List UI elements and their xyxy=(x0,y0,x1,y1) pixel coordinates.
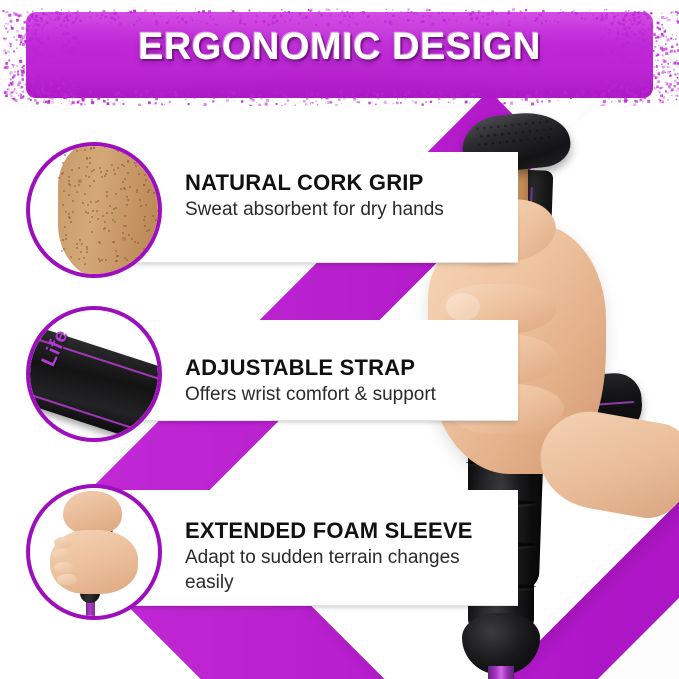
feature-text-block: EXTENDED FOAM SLEEVE Adapt to sudden ter… xyxy=(185,518,495,595)
upper-hand xyxy=(63,491,122,535)
feature-thumbnail-strap: Life xyxy=(26,306,162,442)
feature-description: Sweat absorbent for dry hands xyxy=(185,198,495,222)
feature-text-block: ADJUSTABLE STRAP Offers wrist comfort & … xyxy=(185,355,495,408)
infographic-canvas: ERGONOMIC DESIGN xyxy=(0,0,679,679)
feature-title: NATURAL CORK GRIP xyxy=(185,170,495,195)
purple-pole-shaft xyxy=(488,666,514,679)
feature-description: Adapt to sudden terrain changes easily xyxy=(185,546,495,595)
feature-thumbnail-cork xyxy=(26,142,162,278)
feature-title: ADJUSTABLE STRAP xyxy=(185,355,495,380)
fingertip xyxy=(446,293,480,321)
lower-hand xyxy=(50,530,137,594)
feature-text-block: NATURAL CORK GRIP Sweat absorbent for dr… xyxy=(185,170,495,223)
cork-texture-image xyxy=(58,146,158,274)
page-title: ERGONOMIC DESIGN xyxy=(0,26,679,69)
header-banner: ERGONOMIC DESIGN xyxy=(0,6,679,106)
feature-description: Offers wrist comfort & support xyxy=(185,383,495,407)
feature-title: EXTENDED FOAM SLEEVE xyxy=(185,518,495,543)
feature-thumbnail-foam xyxy=(26,484,162,620)
